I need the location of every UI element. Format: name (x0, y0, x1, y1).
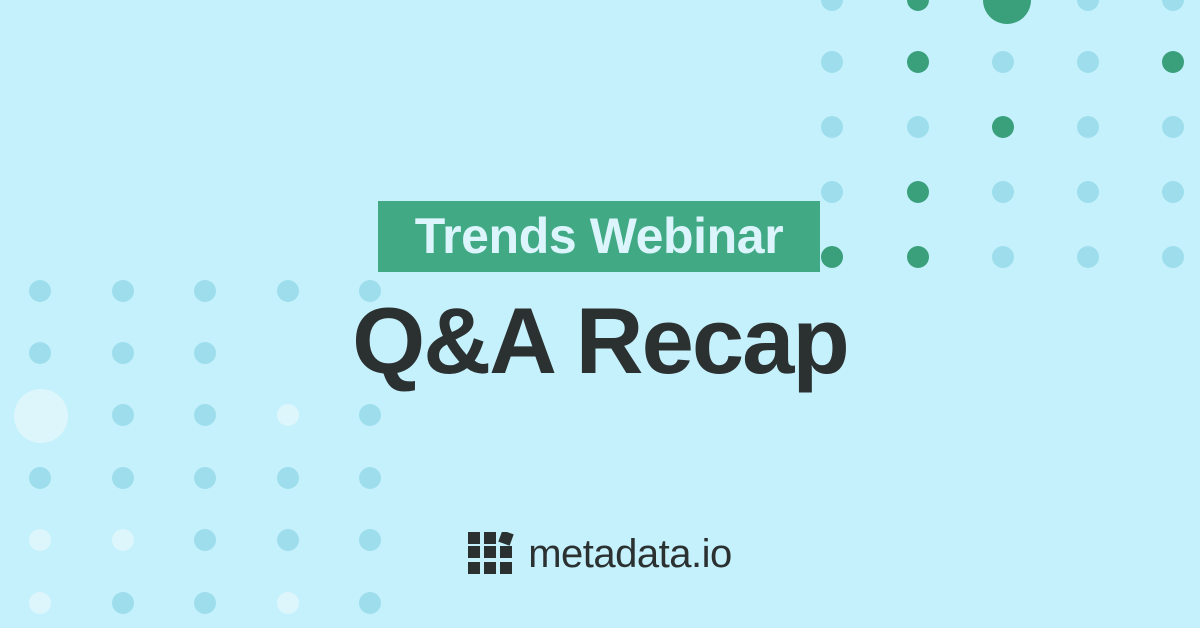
brand-logo-lockup: metadata.io (0, 532, 1200, 576)
metadata-grid-mark-icon (468, 532, 516, 576)
brand-wordmark: metadata.io (528, 534, 732, 574)
banner-content: Trends Webinar Q&A Recap metadata.io (0, 0, 1200, 628)
eyebrow-badge: Trends Webinar (378, 201, 820, 272)
webinar-recap-banner: Trends Webinar Q&A Recap metadata.io (0, 0, 1200, 628)
eyebrow-label: Trends Webinar (415, 211, 784, 261)
page-title: Q&A Recap (0, 294, 1200, 388)
